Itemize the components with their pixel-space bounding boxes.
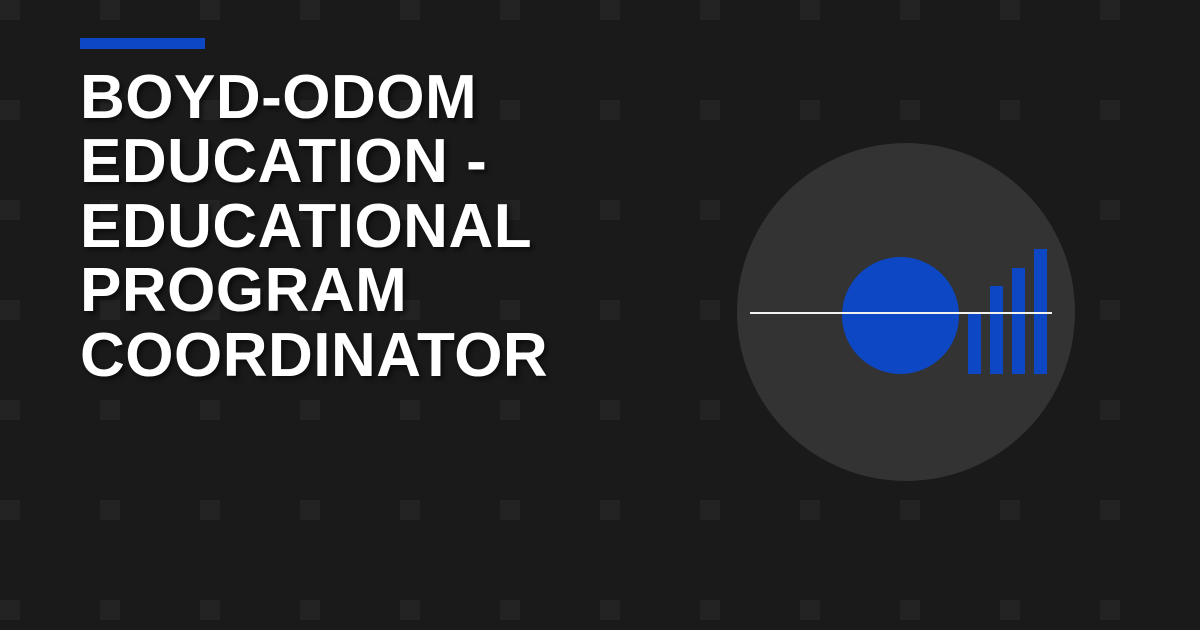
logo-bar-1	[968, 312, 981, 374]
page-title: BOYD-ODOM EDUCATION - EDUCATIONAL PROGRA…	[80, 66, 780, 388]
logo-bar-3	[1012, 268, 1025, 374]
logo-circle-icon	[842, 257, 959, 374]
logo-horizontal-rule	[750, 312, 1052, 314]
banner: BOYD-ODOM EDUCATION - EDUCATIONAL PROGRA…	[0, 0, 1200, 630]
accent-bar	[80, 38, 205, 49]
logo-bar-2	[990, 286, 1003, 374]
